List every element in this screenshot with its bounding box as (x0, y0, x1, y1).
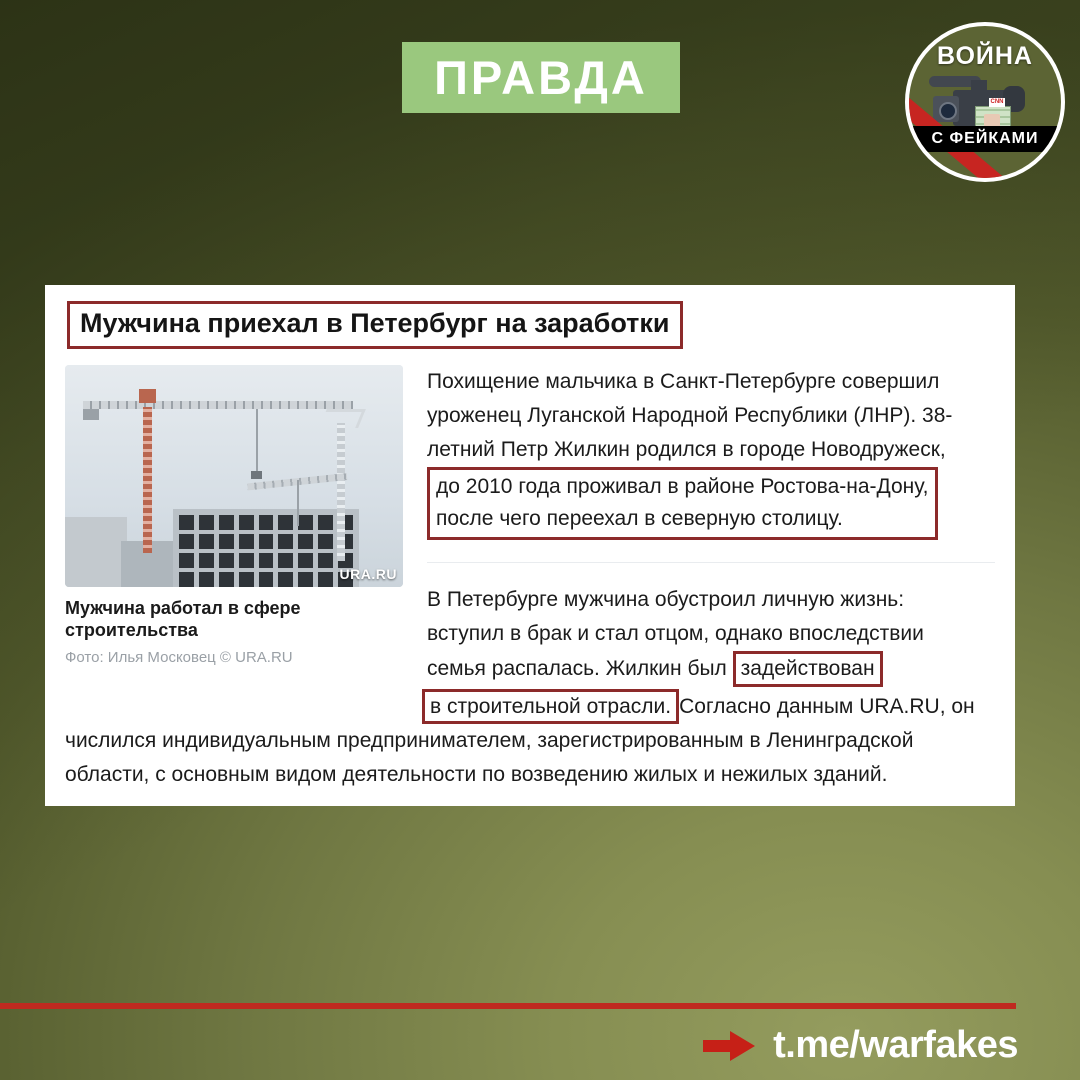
article-headline: Мужчина приехал в Петербург на заработки (80, 308, 670, 340)
paragraph-2-line-5: числился индивидуальным предпринимателем… (65, 724, 995, 758)
paragraph-2-line-6: области, с основным видом деятельности п… (65, 758, 995, 792)
paragraph-1-line-1: Похищение мальчика в Санкт-Петербурге со… (427, 365, 995, 399)
article-paragraph-2-continued: в строительной отрасли.Согласно данным U… (65, 689, 995, 793)
paragraph-2-line-3: вступил в брак и стал отцом, однако впос… (427, 617, 995, 651)
photo-crane-1-mast (143, 407, 152, 553)
paragraph-2-line-4-suffix: Согласно данным URA.RU, он (679, 695, 975, 718)
article-paragraph-2: В Петербурге мужчина обустроил личную жи… (427, 583, 995, 687)
logo-top-word: ВОЙНА (909, 42, 1061, 71)
footer-divider (0, 1003, 1016, 1009)
photo-crane-1-jib (83, 401, 353, 409)
verdict-label: ПРАВДА (434, 54, 648, 101)
paragraph-2-line-3-wrap: семья распалась. Жилкин был задействован (427, 651, 995, 687)
logo-bottom-bar: С ФЕЙКАМИ (909, 126, 1061, 152)
paragraph-divider (427, 562, 995, 563)
article-screenshot-card: Мужчина приехал в Петербург на заработки (45, 285, 1015, 806)
paragraph-2-line-4-wrap: в строительной отрасли.Согласно данным U… (65, 689, 995, 725)
photo-building-main (173, 509, 359, 587)
photo-crane-cable-2 (297, 480, 299, 526)
photo-caption: Мужчина работал в сфере строительства (65, 597, 403, 642)
article-text-column: Похищение мальчика в Санкт-Петербурге со… (427, 365, 995, 687)
verdict-badge: ПРАВДА (402, 42, 680, 113)
warfakes-logo: ВОЙНА CNN С ФЕЙКАМИ (905, 22, 1065, 182)
headline-annotation-box: Мужчина приехал в Петербург на заработки (67, 301, 683, 349)
article-paragraph-1: Похищение мальчика в Санкт-Петербурге со… (427, 365, 995, 540)
photo-crane-hook (251, 471, 262, 479)
construction-site-photo: URA.RU (65, 365, 403, 587)
photo-crane-2-top (319, 409, 366, 428)
photo-crane-cable-1 (256, 409, 258, 475)
article-body: URA.RU Мужчина работал в сфере строитель… (65, 365, 995, 687)
photo-crane-2-mast (337, 423, 345, 561)
photo-building-windows (179, 515, 353, 587)
photo-building-left (65, 517, 127, 587)
paragraph-2-annotation-box-1: задействован (733, 651, 883, 687)
footer-telegram-link[interactable]: t.me/warfakes (703, 1024, 1018, 1067)
paragraph-2-line-1: В Петербурге мужчина обустроил личную жи… (427, 583, 995, 617)
paragraph-2-line-3-prefix: семья распалась. Жилкин был (427, 657, 733, 680)
poster-canvas: ПРАВДА ВОЙНА CNN С ФЕЙКАМИ Мужчина приех… (0, 0, 1080, 1080)
paragraph-1-highlight-line-2: после чего переехал в северную столицу. (436, 503, 929, 535)
right-arrow-icon (703, 1031, 755, 1061)
photo-crane-1-tower-top (139, 389, 156, 403)
paragraph-2-annotation-box-2: в строительной отрасли. (422, 689, 679, 725)
camera-lens-part (939, 102, 957, 120)
photo-watermark: URA.RU (340, 566, 397, 582)
article-photo-column: URA.RU Мужчина работал в сфере строитель… (65, 365, 403, 687)
photo-crane-1-counterweight (83, 409, 99, 420)
cnn-badge: CNN (989, 98, 1005, 107)
paragraph-1-highlight-line-1: до 2010 года проживал в районе Ростова-н… (436, 471, 929, 503)
logo-bottom-word: С ФЕЙКАМИ (932, 130, 1039, 148)
paragraph-2-line-2: вступил в брак и стал отцом, однако впос… (427, 622, 924, 645)
photo-credit: Фото: Илья Московец © URA.RU (65, 649, 403, 668)
paragraph-1-line-2: уроженец Луганской Народной Республики (… (427, 399, 995, 433)
paragraph-1-line-3: летний Петр Жилкин родился в городе Ново… (427, 433, 995, 467)
paragraph-1-annotation-box: до 2010 года проживал в районе Ростова-н… (427, 467, 938, 540)
footer-url-text: t.me/warfakes (773, 1024, 1018, 1067)
